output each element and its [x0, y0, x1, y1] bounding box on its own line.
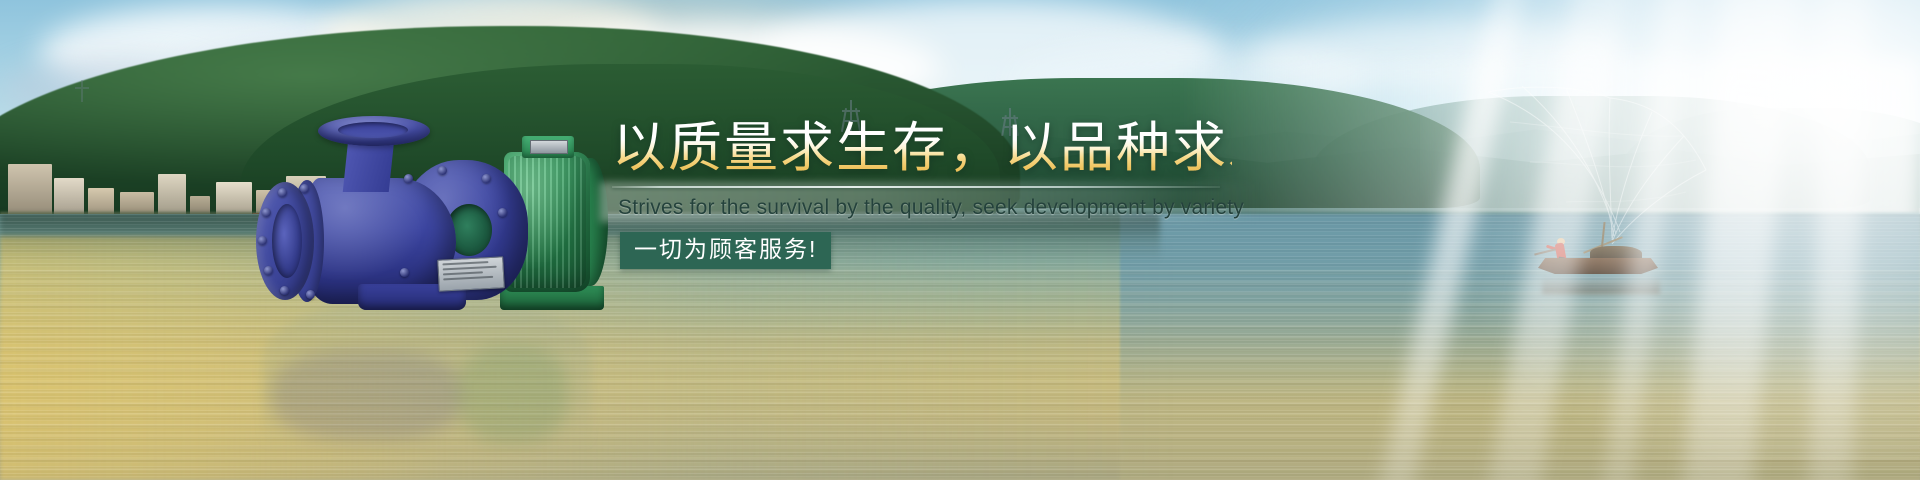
pump-nameplate: [437, 256, 505, 291]
flange-bolt: [306, 290, 315, 299]
pump-discharge-bore: [338, 122, 408, 138]
flange-bolt: [258, 236, 267, 245]
casing-bolt: [498, 208, 507, 217]
hero-banner: 以质量求生存，以品种求发展 Strives for the survival b…: [0, 0, 1920, 480]
casing-bolt: [438, 166, 447, 175]
flange-bolt: [280, 286, 289, 295]
casing-bolt: [400, 268, 409, 277]
suction-flange-bore: [272, 204, 302, 278]
banner-text-block: 以质量求生存，以品种求发展 Strives for the survival b…: [612, 120, 1232, 252]
power-pylon-icon: [74, 80, 90, 102]
pump-reflection: [262, 300, 592, 450]
motor-nameplate: [530, 140, 568, 154]
flange-bolt: [264, 266, 273, 275]
banner-subtitle: Strives for the survival by the quality,…: [618, 196, 1244, 220]
casing-bolt: [404, 174, 413, 183]
flange-bolt: [278, 188, 287, 197]
flange-bolt: [262, 208, 271, 217]
centrifugal-pump-product: [250, 108, 590, 308]
corner-light-glow: [1420, 0, 1920, 460]
service-slogan-badge: 一切为顾客服务!: [620, 232, 831, 269]
banner-headline: 以质量求生存，以品种求发展: [612, 120, 1232, 177]
flange-bolt: [300, 184, 309, 193]
headline-divider: [612, 186, 1220, 188]
casing-bolt: [482, 174, 491, 183]
